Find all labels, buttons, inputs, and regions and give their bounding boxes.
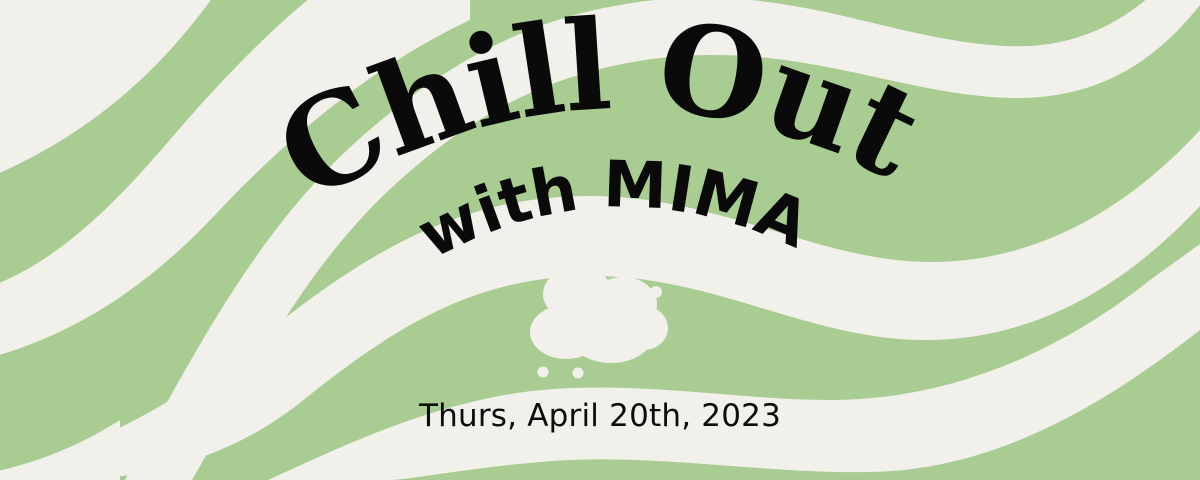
cloud-illustration	[516, 262, 686, 382]
event-banner: Chill Out with MIMA	[0, 0, 1200, 480]
sparkle-dot-lower-center	[573, 368, 584, 379]
cloud-body	[530, 267, 668, 363]
cloud-base	[538, 310, 656, 350]
sparkle-dot-lower-left	[538, 367, 549, 378]
sparkle-dot-upper-right	[650, 286, 662, 298]
cloud-icon	[516, 262, 686, 382]
event-date: Thurs, April 20th, 2023	[0, 398, 1200, 434]
